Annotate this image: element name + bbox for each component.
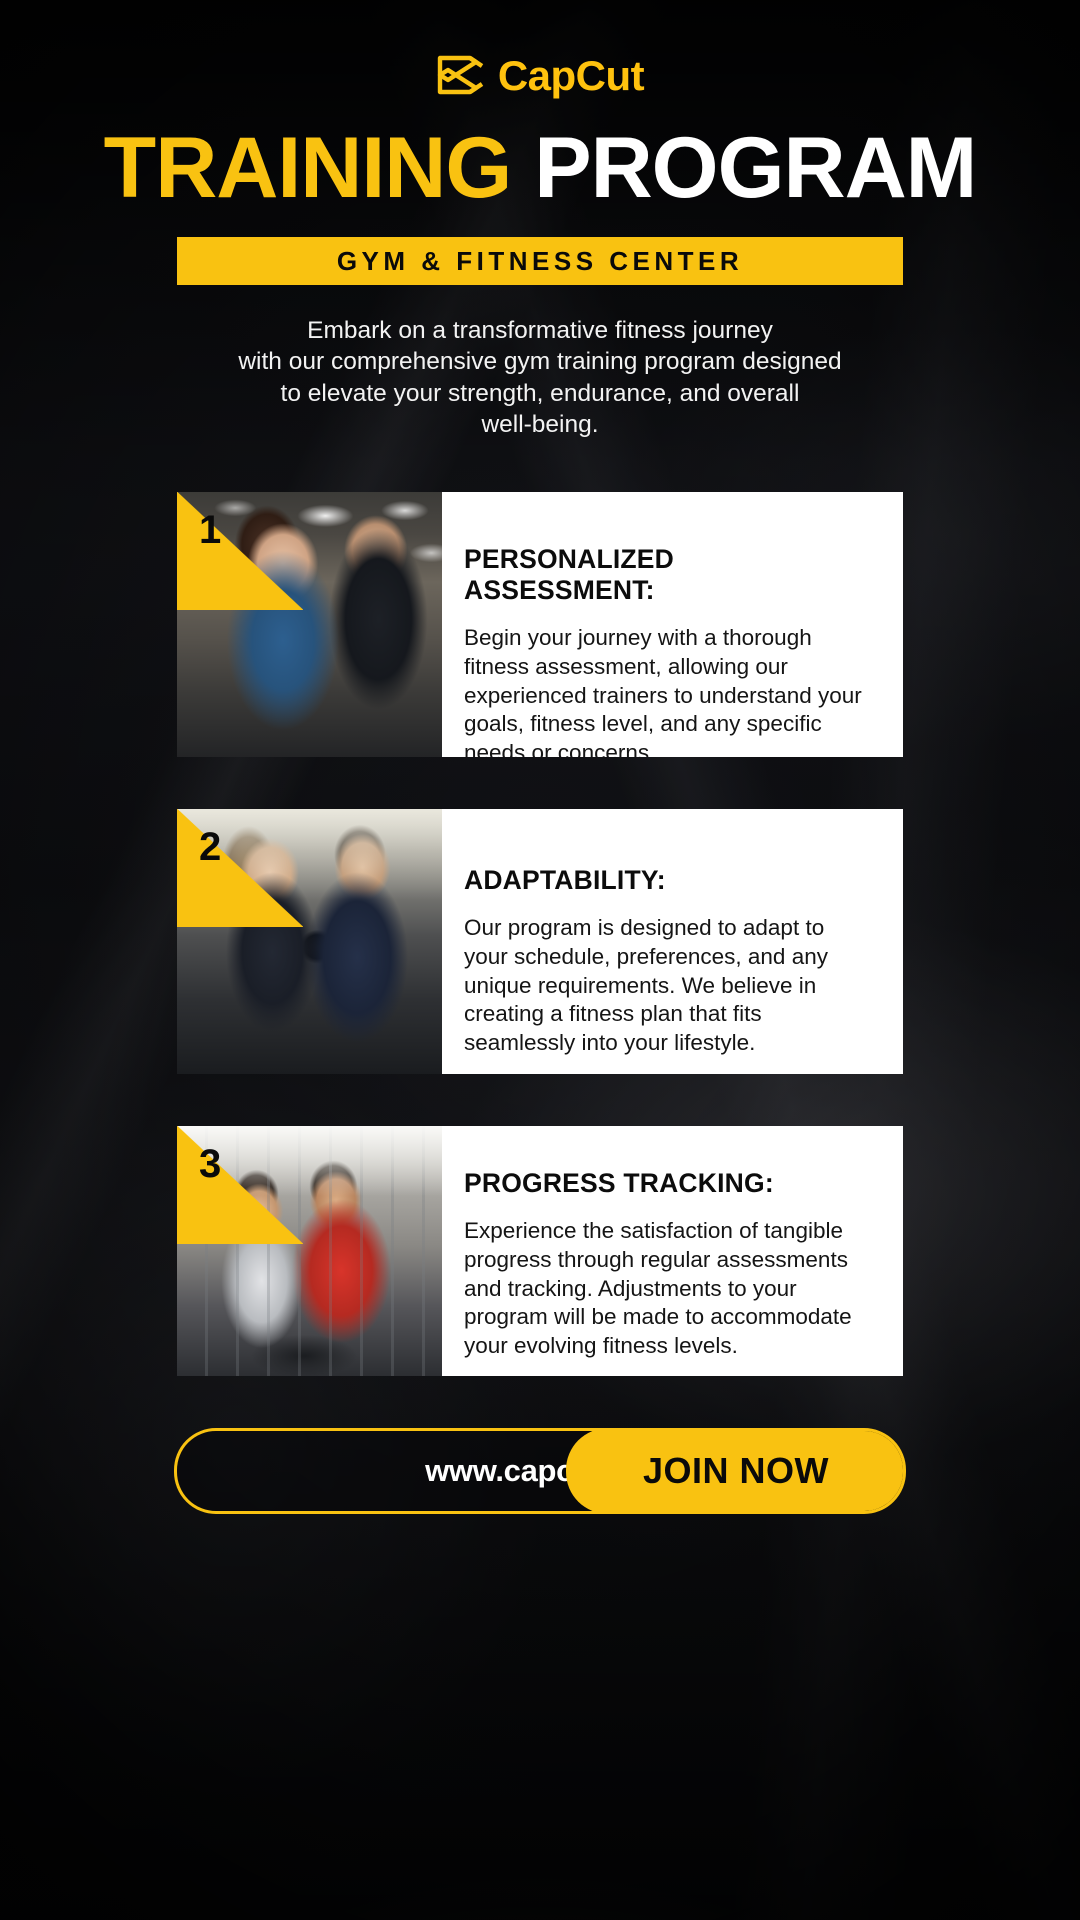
title-word-program: PROGRAM: [534, 120, 976, 216]
brand-logo-text: CapCut: [498, 55, 644, 97]
poster-canvas: CapCut TRAINING PROGRAM GYM & FITNESS CE…: [0, 0, 1080, 1920]
capcut-hourglass-icon: [436, 55, 484, 97]
feature-card-body: PROGRESS TRACKING: Experience the satisf…: [442, 1126, 903, 1376]
feature-card-text: Our program is designed to adapt to your…: [464, 914, 871, 1057]
feature-card-body: PERSONALIZED ASSESSMENT: Begin your jour…: [442, 492, 903, 757]
intro-line-1: Embark on a transformative fitness journ…: [190, 315, 890, 346]
feature-card-list: 1 PERSONALIZED ASSESSMENT: Begin your jo…: [0, 492, 1080, 1376]
subtitle-band-text: GYM & FITNESS CENTER: [337, 246, 743, 277]
number-badge-triangle: [177, 809, 303, 927]
feature-card-title: PERSONALIZED ASSESSMENT:: [464, 544, 871, 606]
feature-card: 2 ADAPTABILITY: Our program is designed …: [177, 809, 903, 1074]
join-now-button[interactable]: JOIN NOW: [566, 1428, 906, 1514]
feature-card: 3 PROGRESS TRACKING: Experience the sati…: [177, 1126, 903, 1376]
title-word-training: TRAINING: [104, 120, 512, 216]
feature-card-text: Experience the satisfaction of tangible …: [464, 1217, 871, 1360]
feature-card-photo: 3: [177, 1126, 442, 1376]
number-badge-triangle: [177, 492, 303, 610]
number-badge-triangle: [177, 1126, 303, 1244]
intro-line-4: well-being.: [190, 409, 890, 440]
page-title: TRAINING PROGRAM: [0, 125, 1080, 211]
feature-card-title: ADAPTABILITY:: [464, 865, 871, 896]
intro-line-2: with our comprehensive gym training prog…: [190, 346, 890, 377]
feature-card-photo: 2: [177, 809, 442, 1074]
brand-logo[interactable]: CapCut: [0, 0, 1080, 97]
feature-card-text: Begin your journey with a thorough fitne…: [464, 624, 871, 757]
intro-line-3: to elevate your strength, endurance, and…: [190, 378, 890, 409]
number-badge-label: 1: [199, 510, 221, 550]
feature-card: 1 PERSONALIZED ASSESSMENT: Begin your jo…: [177, 492, 903, 757]
intro-paragraph: Embark on a transformative fitness journ…: [190, 315, 890, 440]
feature-card-photo: 1: [177, 492, 442, 757]
feature-card-title: PROGRESS TRACKING:: [464, 1168, 871, 1199]
subtitle-band: GYM & FITNESS CENTER: [177, 237, 903, 285]
footer-cta-bar: www.capcut.com JOIN NOW: [174, 1428, 906, 1514]
number-badge-label: 3: [199, 1144, 221, 1184]
feature-card-body: ADAPTABILITY: Our program is designed to…: [442, 809, 903, 1074]
number-badge-label: 2: [199, 827, 221, 867]
